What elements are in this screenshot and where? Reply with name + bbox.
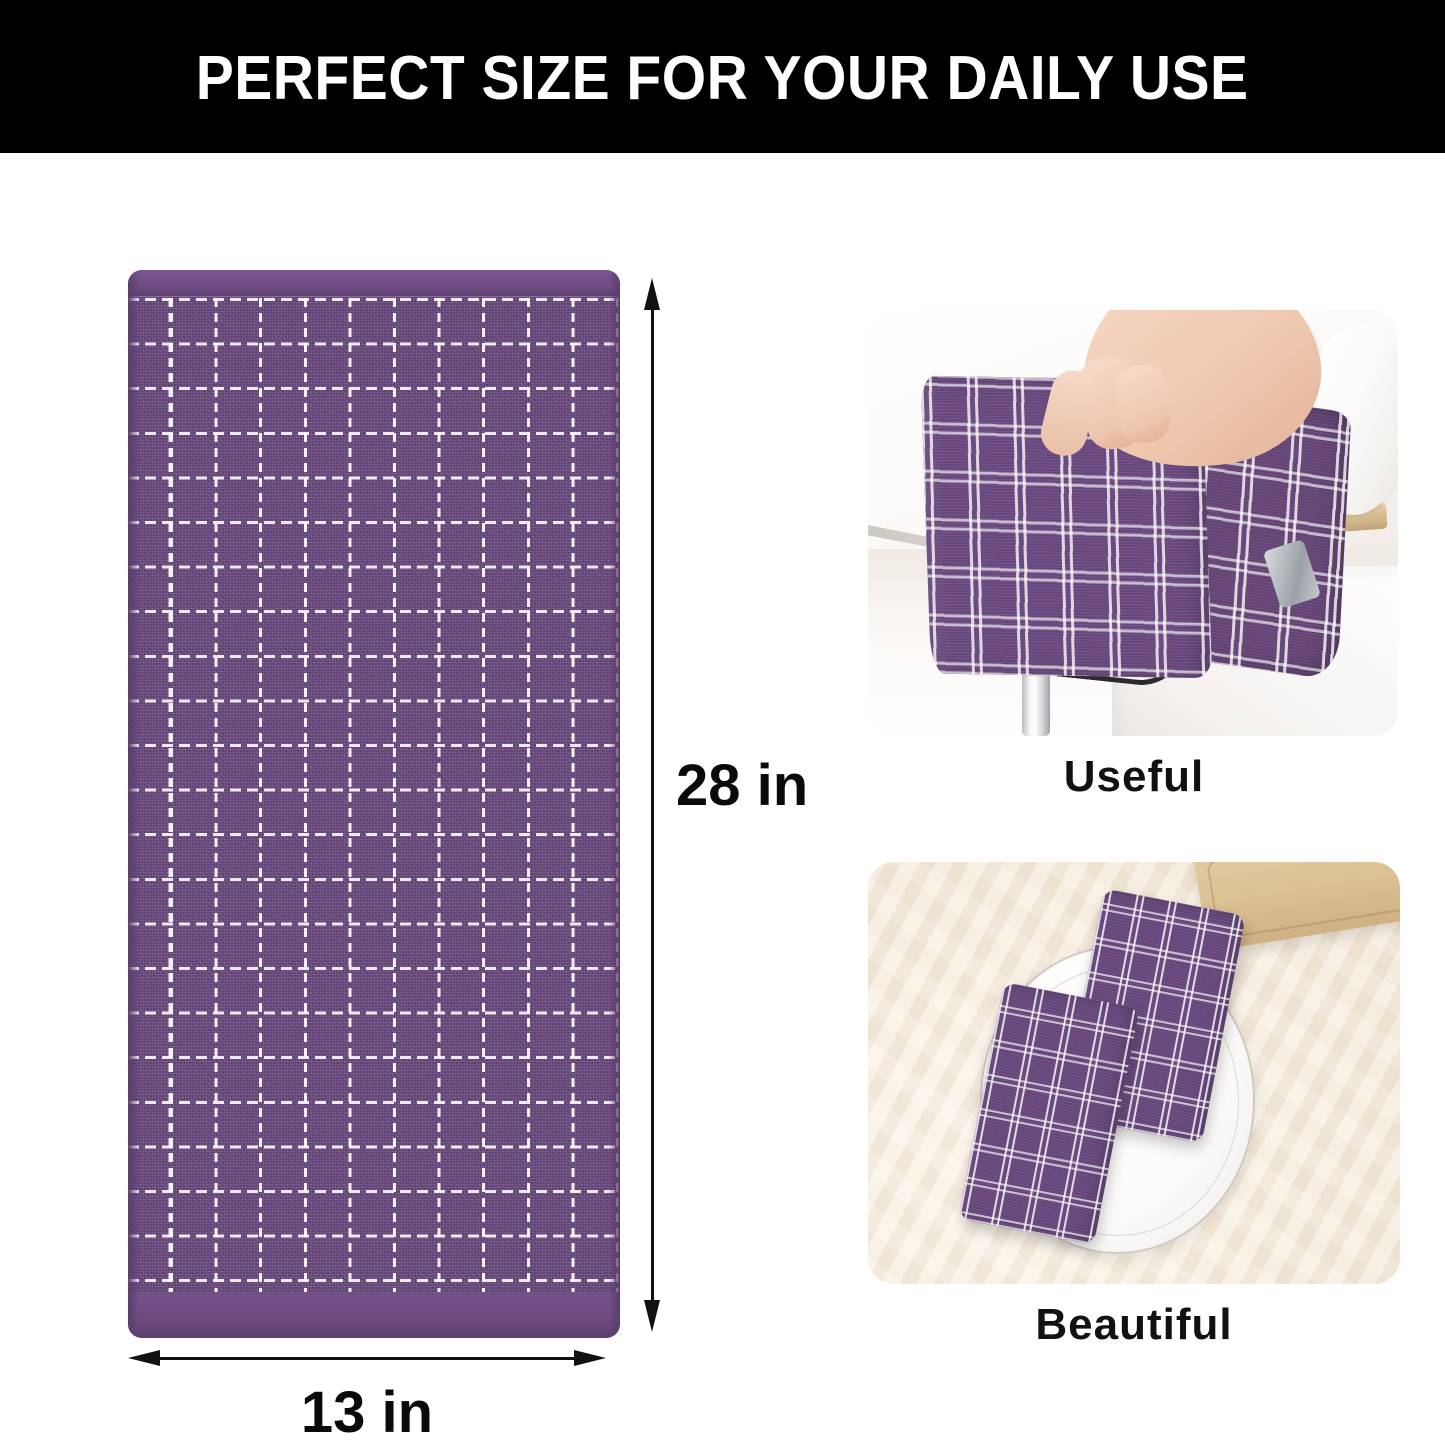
width-dimension-label: 13 in <box>0 1379 734 1446</box>
finger <box>1114 363 1173 445</box>
caption-useful: Useful <box>868 752 1400 802</box>
arrow-shaft <box>141 1357 593 1360</box>
height-dimension-arrow <box>644 278 660 1332</box>
towel-hem-bottom <box>128 1293 620 1338</box>
towel-body <box>128 270 620 1338</box>
arrow-shaft <box>651 291 654 1319</box>
towel-hem-top <box>128 270 620 297</box>
arrow-head-right-icon <box>574 1350 606 1366</box>
towel-grid-horizontal-lines <box>128 298 620 1292</box>
width-dimension-arrow <box>128 1350 606 1366</box>
towel-edge-left <box>128 270 139 1338</box>
arrow-head-down-icon <box>644 1300 660 1332</box>
page-title: PERFECT SIZE FOR YOUR DAILY USE <box>196 44 1249 110</box>
header-banner: PERFECT SIZE FOR YOUR DAILY USE <box>0 0 1445 153</box>
photo-useful <box>868 310 1398 736</box>
caption-beautiful: Beautiful <box>868 1300 1400 1350</box>
product-towel-illustration <box>128 270 620 1338</box>
height-dimension-label: 28 in <box>676 752 808 819</box>
towel-edge-right <box>609 270 620 1338</box>
photo-beautiful <box>868 862 1400 1284</box>
